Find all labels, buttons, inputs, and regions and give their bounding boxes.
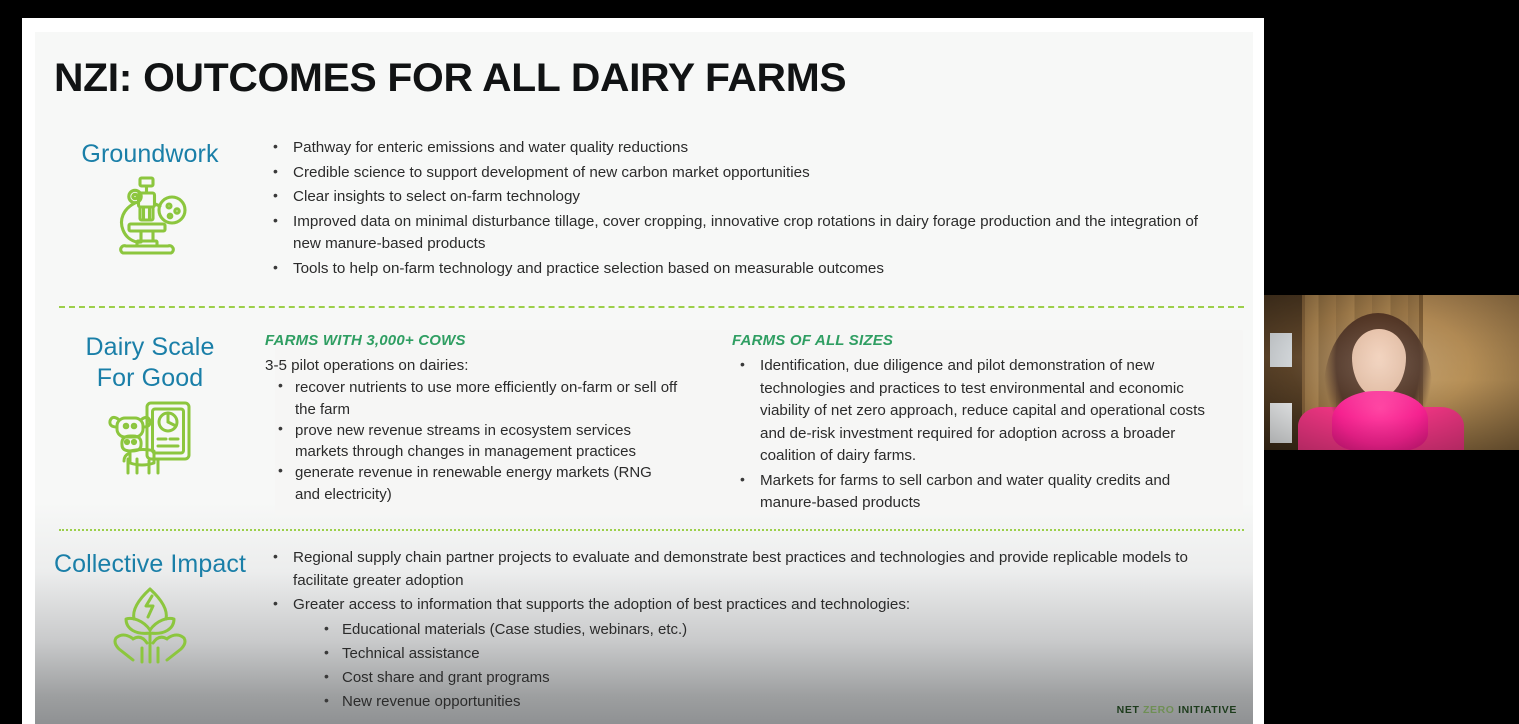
farms-all-sizes-bullet-list: Identification, due diligence and pilot … (732, 355, 1210, 515)
column-lead-farms-3000: 3-5 pilot operations on dairies: (265, 355, 685, 376)
section-groundwork-label: Groundwork (35, 137, 265, 258)
page-title: NZI: OUTCOMES FOR ALL DAIRY FARMS (54, 56, 846, 101)
logo-text-zero: ZERO (1143, 704, 1175, 716)
section-dairy-scale-for-good: Dairy Scale For Good (35, 330, 1253, 515)
meeting-stage: NZI: OUTCOMES FOR ALL DAIRY FARMS Ground… (0, 0, 1519, 724)
presentation-slide: NZI: OUTCOMES FOR ALL DAIRY FARMS Ground… (35, 32, 1253, 724)
column-title-farms-3000: FARMS WITH 3,000+ COWS (265, 332, 685, 349)
cow-with-tablet-icon (106, 399, 194, 479)
section-collective-impact-heading: Collective Impact (35, 549, 265, 580)
section-dairy-scale-heading-line2: For Good (35, 363, 265, 394)
list-item: Technical assistance (310, 643, 1225, 665)
section-dairy-scale-heading-line1: Dairy Scale (35, 332, 265, 363)
logo-text-initiative: INITIATIVE (1175, 704, 1237, 716)
list-item: Markets for farms to sell carbon and wat… (732, 470, 1210, 515)
plant-in-hands-icon (110, 586, 190, 664)
list-item: New revenue opportunities (310, 691, 1225, 713)
list-item: Greater access to information that suppo… (265, 594, 1225, 617)
video-vignette (1264, 295, 1519, 450)
section-divider-1 (59, 306, 1244, 308)
section-groundwork: Groundwork (35, 137, 1253, 282)
list-item: Regional supply chain partner projects t… (265, 547, 1225, 592)
list-item: Credible science to support development … (265, 162, 1210, 185)
list-item: prove new revenue streams in ecosystem s… (273, 420, 678, 463)
collective-impact-content: Regional supply chain partner projects t… (265, 547, 1225, 715)
section-dairy-scale-label: Dairy Scale For Good (35, 330, 265, 479)
speaker-video-thumbnail[interactable] (1264, 295, 1519, 450)
list-item: Educational materials (Case studies, web… (310, 619, 1225, 641)
list-item: Tools to help on-farm technology and pra… (265, 258, 1210, 281)
section-collective-impact-label: Collective Impact (35, 547, 265, 664)
list-item: Cost share and grant programs (310, 667, 1225, 689)
list-item: Identification, due diligence and pilot … (732, 355, 1210, 468)
dairy-scale-column-farms-all-sizes: FARMS OF ALL SIZES Identification, due d… (732, 330, 1222, 517)
microscope-icon (107, 176, 193, 258)
shared-screen-slide-frame[interactable]: NZI: OUTCOMES FOR ALL DAIRY FARMS Ground… (22, 18, 1264, 724)
list-item: recover nutrients to use more efficientl… (273, 377, 678, 420)
section-groundwork-heading: Groundwork (35, 139, 265, 170)
collective-impact-bullet-list: Regional supply chain partner projects t… (265, 547, 1225, 617)
list-item: Improved data on minimal disturbance til… (265, 211, 1210, 256)
collective-impact-sub-bullet-list: Educational materials (Case studies, web… (310, 619, 1225, 714)
column-title-farms-all-sizes: FARMS OF ALL SIZES (732, 332, 1222, 349)
section-divider-2 (59, 529, 1244, 531)
logo-text-net: NET (1117, 704, 1143, 716)
dairy-scale-column-farms-3000: FARMS WITH 3,000+ COWS 3-5 pilot operati… (265, 330, 685, 505)
farms-3000-bullet-list: recover nutrients to use more efficientl… (273, 377, 678, 505)
list-item: Clear insights to select on-farm technol… (265, 186, 1210, 209)
groundwork-bullet-list: Pathway for enteric emissions and water … (265, 137, 1210, 282)
net-zero-initiative-logo: NET ZERO INITIATIVE (1117, 704, 1237, 716)
list-item: generate revenue in renewable energy mar… (273, 462, 678, 505)
section-collective-impact: Collective Impact (35, 547, 1253, 715)
list-item: Pathway for enteric emissions and water … (265, 137, 1210, 160)
